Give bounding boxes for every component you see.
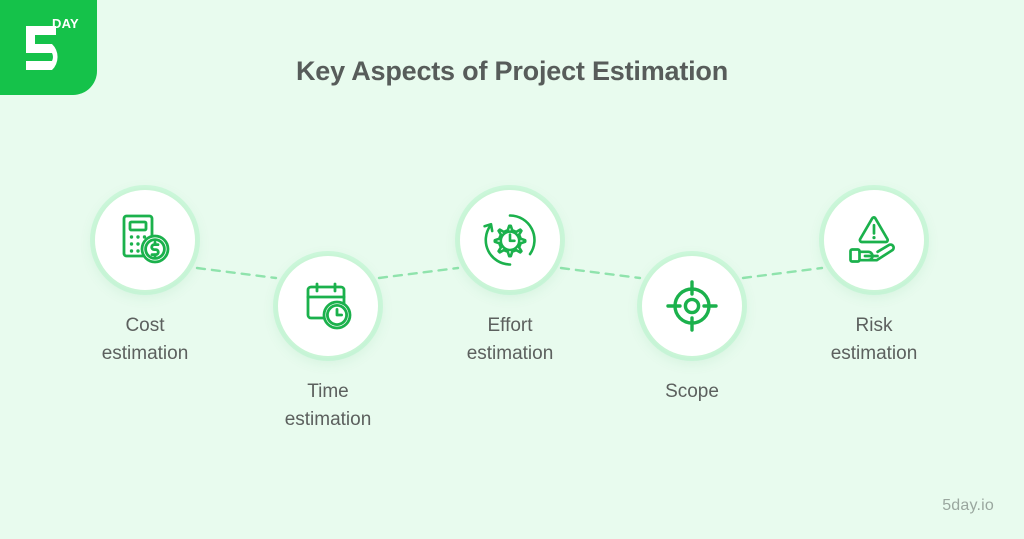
hand-warning-icon bbox=[845, 211, 903, 269]
flow-node-label-scope: Scope bbox=[582, 378, 802, 406]
flow-node-risk[interactable] bbox=[822, 188, 926, 292]
flow-node-label-cost: Cost estimation bbox=[35, 312, 255, 367]
flow-node-cost[interactable] bbox=[93, 188, 197, 292]
gear-clock-refresh-icon bbox=[481, 211, 539, 269]
connector-cost-time bbox=[197, 268, 276, 278]
site-watermark: 5day.io bbox=[942, 497, 994, 515]
flow-node-effort[interactable] bbox=[458, 188, 562, 292]
crosshair-target-icon bbox=[663, 277, 721, 335]
icon-bubble bbox=[822, 188, 926, 292]
connector-time-effort bbox=[379, 268, 458, 278]
icon-bubble bbox=[458, 188, 562, 292]
calendar-clock-icon bbox=[299, 277, 357, 335]
flow-node-scope[interactable] bbox=[640, 254, 744, 358]
icon-bubble bbox=[93, 188, 197, 292]
page-title: Key Aspects of Project Estimation bbox=[0, 56, 1024, 87]
icon-bubble bbox=[640, 254, 744, 358]
infographic-canvas: DAY Key Aspects of Project Estimation bbox=[0, 0, 1024, 539]
connector-scope-risk bbox=[743, 268, 822, 278]
flow-node-label-time: Time estimation bbox=[218, 378, 438, 433]
flow-node-time[interactable] bbox=[276, 254, 380, 358]
icon-bubble bbox=[276, 254, 380, 358]
calculator-dollar-icon bbox=[116, 211, 174, 269]
connector-effort-scope bbox=[561, 268, 640, 278]
flow-node-label-effort: Effort estimation bbox=[400, 312, 620, 367]
flow-node-label-risk: Risk estimation bbox=[764, 312, 984, 367]
